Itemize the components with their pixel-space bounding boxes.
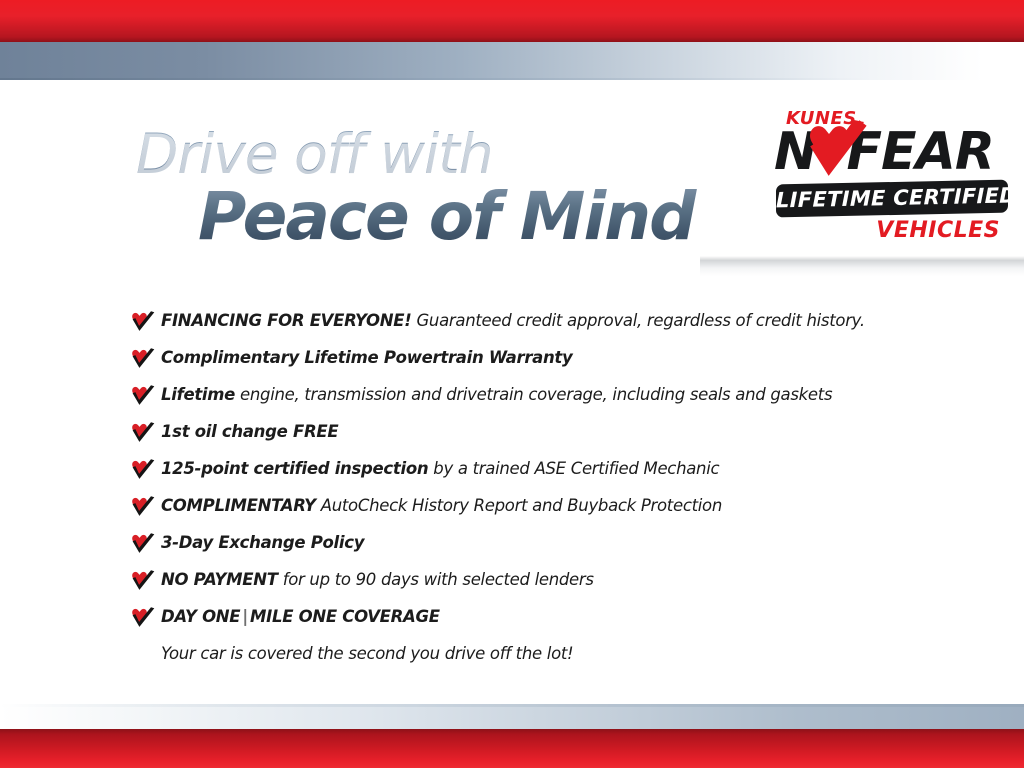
feature-text-regular: AutoCheck History Report and Buyback Pro…: [316, 496, 722, 515]
feature-text: 1st oil change FREE: [161, 421, 338, 442]
feature-text: 3-Day Exchange Policy: [161, 532, 364, 553]
feature-text: 125-point certified inspection by a trai…: [161, 458, 719, 479]
feature-text-bold: COMPLIMENTARY: [161, 496, 316, 515]
feature-text: COMPLIMENTARY AutoCheck History Report a…: [161, 495, 722, 516]
feature-text-bold: 3-Day Exchange Policy: [161, 533, 364, 552]
feature-subtext: Your car is covered the second you drive…: [161, 643, 930, 664]
feature-text-bold: FINANCING FOR EVERYONE!: [161, 311, 412, 330]
feature-item: 125-point certified inspection by a trai…: [130, 458, 930, 482]
feature-item: Lifetime engine, transmission and drivet…: [130, 384, 930, 408]
feature-row: 3-Day Exchange Policy: [130, 532, 930, 556]
feature-text: FINANCING FOR EVERYONE! Guaranteed credi…: [161, 310, 865, 331]
feature-text-bold: DAY ONE: [161, 607, 240, 626]
feature-item: DAY ONE|MILE ONE COVERAGEYour car is cov…: [130, 606, 930, 664]
feature-text-regular: for up to 90 days with selected lenders: [278, 570, 594, 589]
feature-text: DAY ONE|MILE ONE COVERAGE: [161, 606, 440, 627]
heart-check-bullet-icon: [130, 496, 156, 518]
heart-check-bullet-icon: [130, 422, 156, 444]
feature-row: Lifetime engine, transmission and drivet…: [130, 384, 930, 408]
kunes-no-fear-logo: KUNES NFEAR LIFETIME CERTIFIED VEHICLES: [772, 108, 1012, 248]
heart-check-bullet-icon: [130, 607, 156, 629]
feature-row: Complimentary Lifetime Powertrain Warran…: [130, 347, 930, 371]
feature-row: 1st oil change FREE: [130, 421, 930, 445]
feature-item: NO PAYMENT for up to 90 days with select…: [130, 569, 930, 593]
feature-text-bold: 1st oil change FREE: [161, 422, 338, 441]
headline-line-one: Drive off with: [136, 124, 756, 184]
feature-item: FINANCING FOR EVERYONE! Guaranteed credi…: [130, 310, 930, 334]
feature-text-regular: Guaranteed credit approval, regardless o…: [412, 311, 865, 330]
feature-item: 3-Day Exchange Policy: [130, 532, 930, 556]
feature-item: COMPLIMENTARY AutoCheck History Report a…: [130, 495, 930, 519]
logo-vehicles-text: VEHICLES: [876, 218, 1000, 243]
feature-text-bold: Lifetime: [161, 385, 235, 404]
heart-check-bullet-icon: [130, 385, 156, 407]
feature-item: 1st oil change FREE: [130, 421, 930, 445]
feature-text-bold: Complimentary Lifetime Powertrain Warran…: [161, 348, 572, 367]
heart-check-bullet-icon: [130, 570, 156, 592]
feature-row: FINANCING FOR EVERYONE! Guaranteed credi…: [130, 310, 930, 334]
feature-text: Complimentary Lifetime Powertrain Warran…: [161, 347, 572, 368]
feature-list: FINANCING FOR EVERYONE! Guaranteed credi…: [130, 310, 930, 664]
headline-divider: [700, 256, 1024, 276]
heart-check-bullet-icon: [130, 459, 156, 481]
feature-row: DAY ONE|MILE ONE COVERAGE: [130, 606, 930, 630]
feature-text-bold: 125-point certified inspection: [161, 459, 428, 478]
feature-text: Lifetime engine, transmission and drivet…: [161, 384, 832, 405]
feature-text-separator: |: [240, 607, 250, 626]
feature-text-bold: NO PAYMENT: [161, 570, 278, 589]
top-gray-gradient-band: [0, 42, 1024, 80]
bottom-red-band: [0, 729, 1024, 768]
heart-check-icon: [804, 120, 870, 182]
top-red-band: [0, 0, 1024, 42]
logo-lifetime-certified-text: LIFETIME CERTIFIED: [776, 180, 1008, 218]
feature-text-regular: engine, transmission and drivetrain cove…: [235, 385, 832, 404]
feature-row: NO PAYMENT for up to 90 days with select…: [130, 569, 930, 593]
heart-check-bullet-icon: [130, 311, 156, 333]
headline-block: Drive off with Peace of Mind: [136, 124, 756, 254]
feature-text-bold-secondary: MILE ONE COVERAGE: [250, 607, 440, 626]
headline-line-two: Peace of Mind: [198, 180, 756, 254]
feature-text: NO PAYMENT for up to 90 days with select…: [161, 569, 594, 590]
feature-text-regular: by a trained ASE Certified Mechanic: [428, 459, 719, 478]
feature-row: COMPLIMENTARY AutoCheck History Report a…: [130, 495, 930, 519]
heart-check-bullet-icon: [130, 533, 156, 555]
heart-check-bullet-icon: [130, 348, 156, 370]
logo-lifetime-certified-bar: LIFETIME CERTIFIED: [776, 180, 1008, 218]
feature-row: 125-point certified inspection by a trai…: [130, 458, 930, 482]
bottom-gray-gradient-band: [0, 704, 1024, 729]
feature-item: Complimentary Lifetime Powertrain Warran…: [130, 347, 930, 371]
